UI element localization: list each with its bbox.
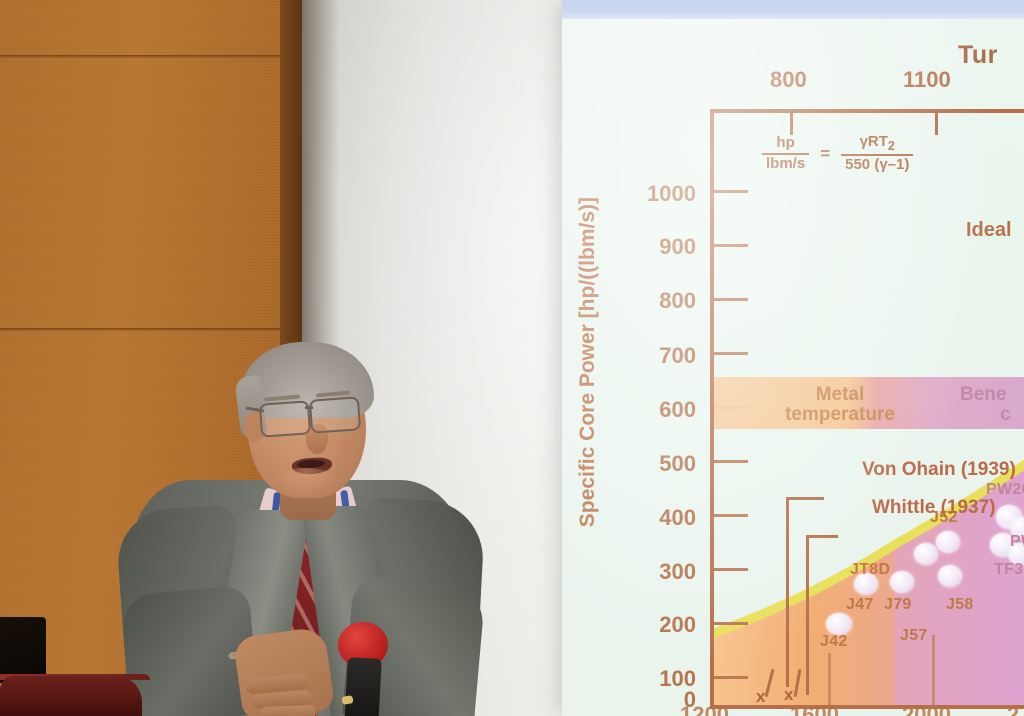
podium — [0, 676, 142, 716]
engine-label-jt8d: JT8D — [850, 561, 890, 579]
annotation-von-ohain: Von Ohain (1939) — [862, 459, 1016, 481]
glasses-lens-left — [259, 400, 311, 437]
top-tick-1100 — [935, 113, 938, 135]
engine-label-j58: J58 — [946, 596, 974, 614]
engine-dot-j79 — [890, 571, 914, 593]
x-marker-2: x — [784, 685, 793, 705]
y-tick-100 — [714, 676, 748, 679]
slide-content: Tur 800 1100 Specific Core Power [hp/((l… — [562, 19, 1024, 716]
equation-block: hp lbm/s = γRT2 550 (γ–1) — [762, 134, 913, 174]
wall-seam-upper — [0, 55, 302, 58]
y-tick-label-200: 200 — [562, 612, 696, 638]
engine-dot-j58 — [938, 565, 962, 587]
speaker-nose — [306, 424, 328, 454]
y-tick-label-300: 300 — [562, 559, 696, 585]
top-axis-tick-label-1100: 1100 — [903, 67, 951, 93]
y-tick-label-1000: 1000 — [562, 181, 696, 207]
engine-dot-jt8d — [914, 543, 938, 565]
engine-dot-j42 — [826, 613, 852, 635]
microphone-body — [344, 657, 382, 716]
equation-equals-sign: = — [820, 144, 830, 164]
plot-area: Metal temperature Bene c x x J42 J47 — [710, 109, 1024, 709]
y-tick-900 — [714, 244, 748, 247]
equation-lhs: hp lbm/s — [762, 135, 809, 173]
annotation-whittle: Whittle (1937) — [872, 497, 996, 519]
y-tick-800 — [714, 298, 748, 301]
leader-whittle-h — [806, 535, 838, 538]
band-label-benefits-line2: c — [1000, 405, 1024, 425]
bottom-band-divider-2 — [932, 635, 935, 705]
slide-title: Tur — [958, 41, 998, 70]
leader-von-ohain-v — [786, 497, 789, 687]
y-tick-1000 — [714, 190, 748, 193]
y-tick-label-400: 400 — [562, 505, 696, 531]
y-tick-200 — [714, 622, 748, 625]
speaker-chin — [272, 468, 340, 498]
y-tick-label-900: 900 — [562, 234, 696, 260]
engine-dot-j52 — [936, 531, 960, 553]
leader-whittle-v — [806, 535, 809, 695]
equation-rhs-numerator: γRT2 — [856, 134, 899, 154]
engine-label-pw: PW — [1010, 533, 1024, 551]
speaker-cheek — [334, 430, 362, 470]
y-tick-label-0: 0 — [562, 687, 696, 713]
band-label-metal-line1: Metal — [760, 385, 920, 405]
y-tick-400 — [714, 514, 748, 517]
top-tick-800 — [790, 113, 793, 135]
x-marker-1: x — [756, 687, 765, 707]
equation-rhs: γRT2 550 (γ–1) — [841, 134, 913, 174]
y-tick-label-600: 600 — [562, 397, 696, 423]
equation-rhs-denominator: 550 (γ–1) — [841, 156, 913, 174]
y-tick-label-800: 800 — [562, 288, 696, 314]
engine-label-j79: J79 — [884, 596, 912, 614]
screenshot-root: Tur 800 1100 Specific Core Power [hp/((l… — [0, 0, 1024, 716]
band-label-benefits-line1: Bene — [960, 385, 1024, 405]
top-axis-line — [710, 109, 1024, 113]
equation-lhs-denominator: lbm/s — [762, 155, 809, 173]
y-tick-label-700: 700 — [562, 343, 696, 369]
projection-screen: Tur 800 1100 Specific Core Power [hp/((l… — [562, 0, 1024, 716]
wall-seam-lower — [0, 328, 302, 331]
y-tick-500 — [714, 460, 748, 463]
slide-top-band — [562, 0, 1024, 19]
ideal-label: Ideal — [966, 219, 1012, 242]
equation-lhs-numerator: hp — [772, 135, 798, 153]
engine-label-j47: J47 — [846, 596, 874, 614]
top-axis-tick-label-800: 800 — [770, 67, 807, 93]
engine-label-j42: J42 — [820, 633, 848, 651]
bottom-band-divider-1 — [828, 653, 831, 705]
engine-label-j57: J57 — [900, 627, 928, 645]
glasses-bridge — [305, 406, 313, 409]
y-tick-300 — [714, 568, 748, 571]
band-label-metal-line2: temperature — [730, 405, 950, 425]
engine-label-tf30: TF30 — [994, 561, 1024, 579]
y-tick-label-500: 500 — [562, 451, 696, 477]
leader-von-ohain-h — [786, 497, 824, 500]
y-tick-700 — [714, 352, 748, 355]
equation-rhs-num-text: γRT — [860, 133, 888, 150]
equation-rhs-num-subscript: 2 — [888, 139, 895, 153]
speaker-finger-3 — [260, 705, 316, 716]
speaker — [120, 340, 480, 716]
